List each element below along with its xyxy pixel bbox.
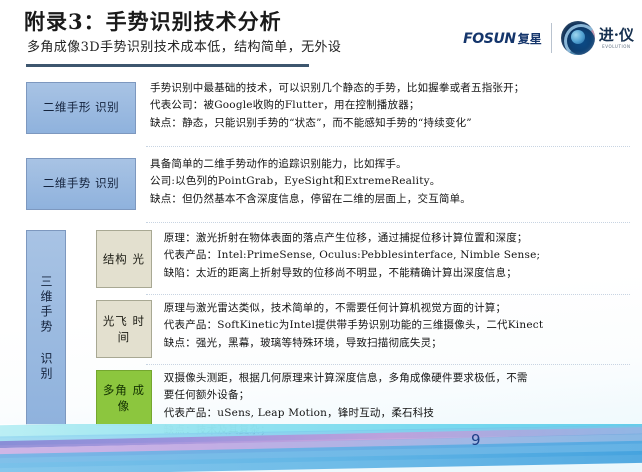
content-row-structured-light: 结构 光 原理：激光折射在物体表面的落点产生位移，通过捕捉位移计算位置和深度； … <box>96 230 630 288</box>
evolution-logo: 进·仪 EVOLUTION <box>561 21 634 55</box>
category-box-2d-shape: 二维手形 识别 <box>26 82 136 134</box>
page-number: 9 <box>471 431 481 449</box>
subcategory-box-time-of-flight: 光飞 时间 <box>96 300 152 358</box>
row-text-time-of-flight: 原理与激光雷达类似，技术简单的，不需要任何计算机视觉方面的计算； 代表产品：So… <box>164 300 630 352</box>
content-row-2d-gesture: 二维手势 识别 具备简单的二维手势动作的追踪识别能力，比如挥手。 公司:以色列的… <box>26 158 630 210</box>
evolution-logo-cn: 进·仪 <box>599 28 634 43</box>
fosun-logo-en: FOSUN <box>463 31 516 47</box>
category-box-2d-gesture: 二维手势 识别 <box>26 158 136 210</box>
subcategory-box-structured-light: 结构 光 <box>96 230 152 288</box>
row-separator-1 <box>146 146 630 147</box>
fosun-logo-cn: 复星 <box>518 30 542 47</box>
category-box-3d-gesture: 三维手势 识别 <box>26 230 66 426</box>
evolution-logo-en: EVOLUTION <box>602 45 630 49</box>
content-row-time-of-flight: 光飞 时间 原理与激光雷达类似，技术简单的，不需要任何计算机视觉方面的计算； 代… <box>96 300 630 358</box>
row-text-2d-shape: 手势识别中最基础的技术，可以识别几个静态的手势，比如握拳或者五指张开； 代表公司… <box>150 80 628 132</box>
branding-logos: FOSUN 复星 进·仪 EVOLUTION <box>463 18 634 58</box>
header-rule <box>26 64 309 67</box>
subcategory-box-multi-angle: 多角 成像 <box>96 370 152 426</box>
row-separator-2 <box>146 222 630 223</box>
row-separator-4 <box>146 364 630 365</box>
logo-divider <box>551 23 552 53</box>
row-text-2d-gesture: 具备简单的二维手势动作的追踪识别能力，比如挥手。 公司:以色列的PointGra… <box>150 156 628 208</box>
content-row-2d-shape: 二维手形 识别 手势识别中最基础的技术，可以识别几个静态的手势，比如握拳或者五指… <box>26 82 630 134</box>
slide-header: 附录3：手势识别技术分析 多角成像3D手势识别技术成本低，结构简单，无外设 FO… <box>0 0 642 68</box>
evolution-orb-icon <box>561 21 595 55</box>
page-title: 附录3：手势识别技术分析 <box>24 6 282 36</box>
footer-decoration <box>0 424 642 472</box>
row-separator-3 <box>146 294 630 295</box>
page-subtitle: 多角成像3D手势识别技术成本低，结构简单，无外设 <box>27 36 341 55</box>
slide-canvas: 附录3：手势识别技术分析 多角成像3D手势识别技术成本低，结构简单，无外设 FO… <box>0 0 642 472</box>
fosun-logo: FOSUN 复星 <box>463 30 542 47</box>
row-text-structured-light: 原理：激光折射在物体表面的落点产生位移，通过捕捉位移计算位置和深度； 代表产品：… <box>164 230 630 282</box>
evolution-logo-text: 进·仪 EVOLUTION <box>599 28 634 49</box>
